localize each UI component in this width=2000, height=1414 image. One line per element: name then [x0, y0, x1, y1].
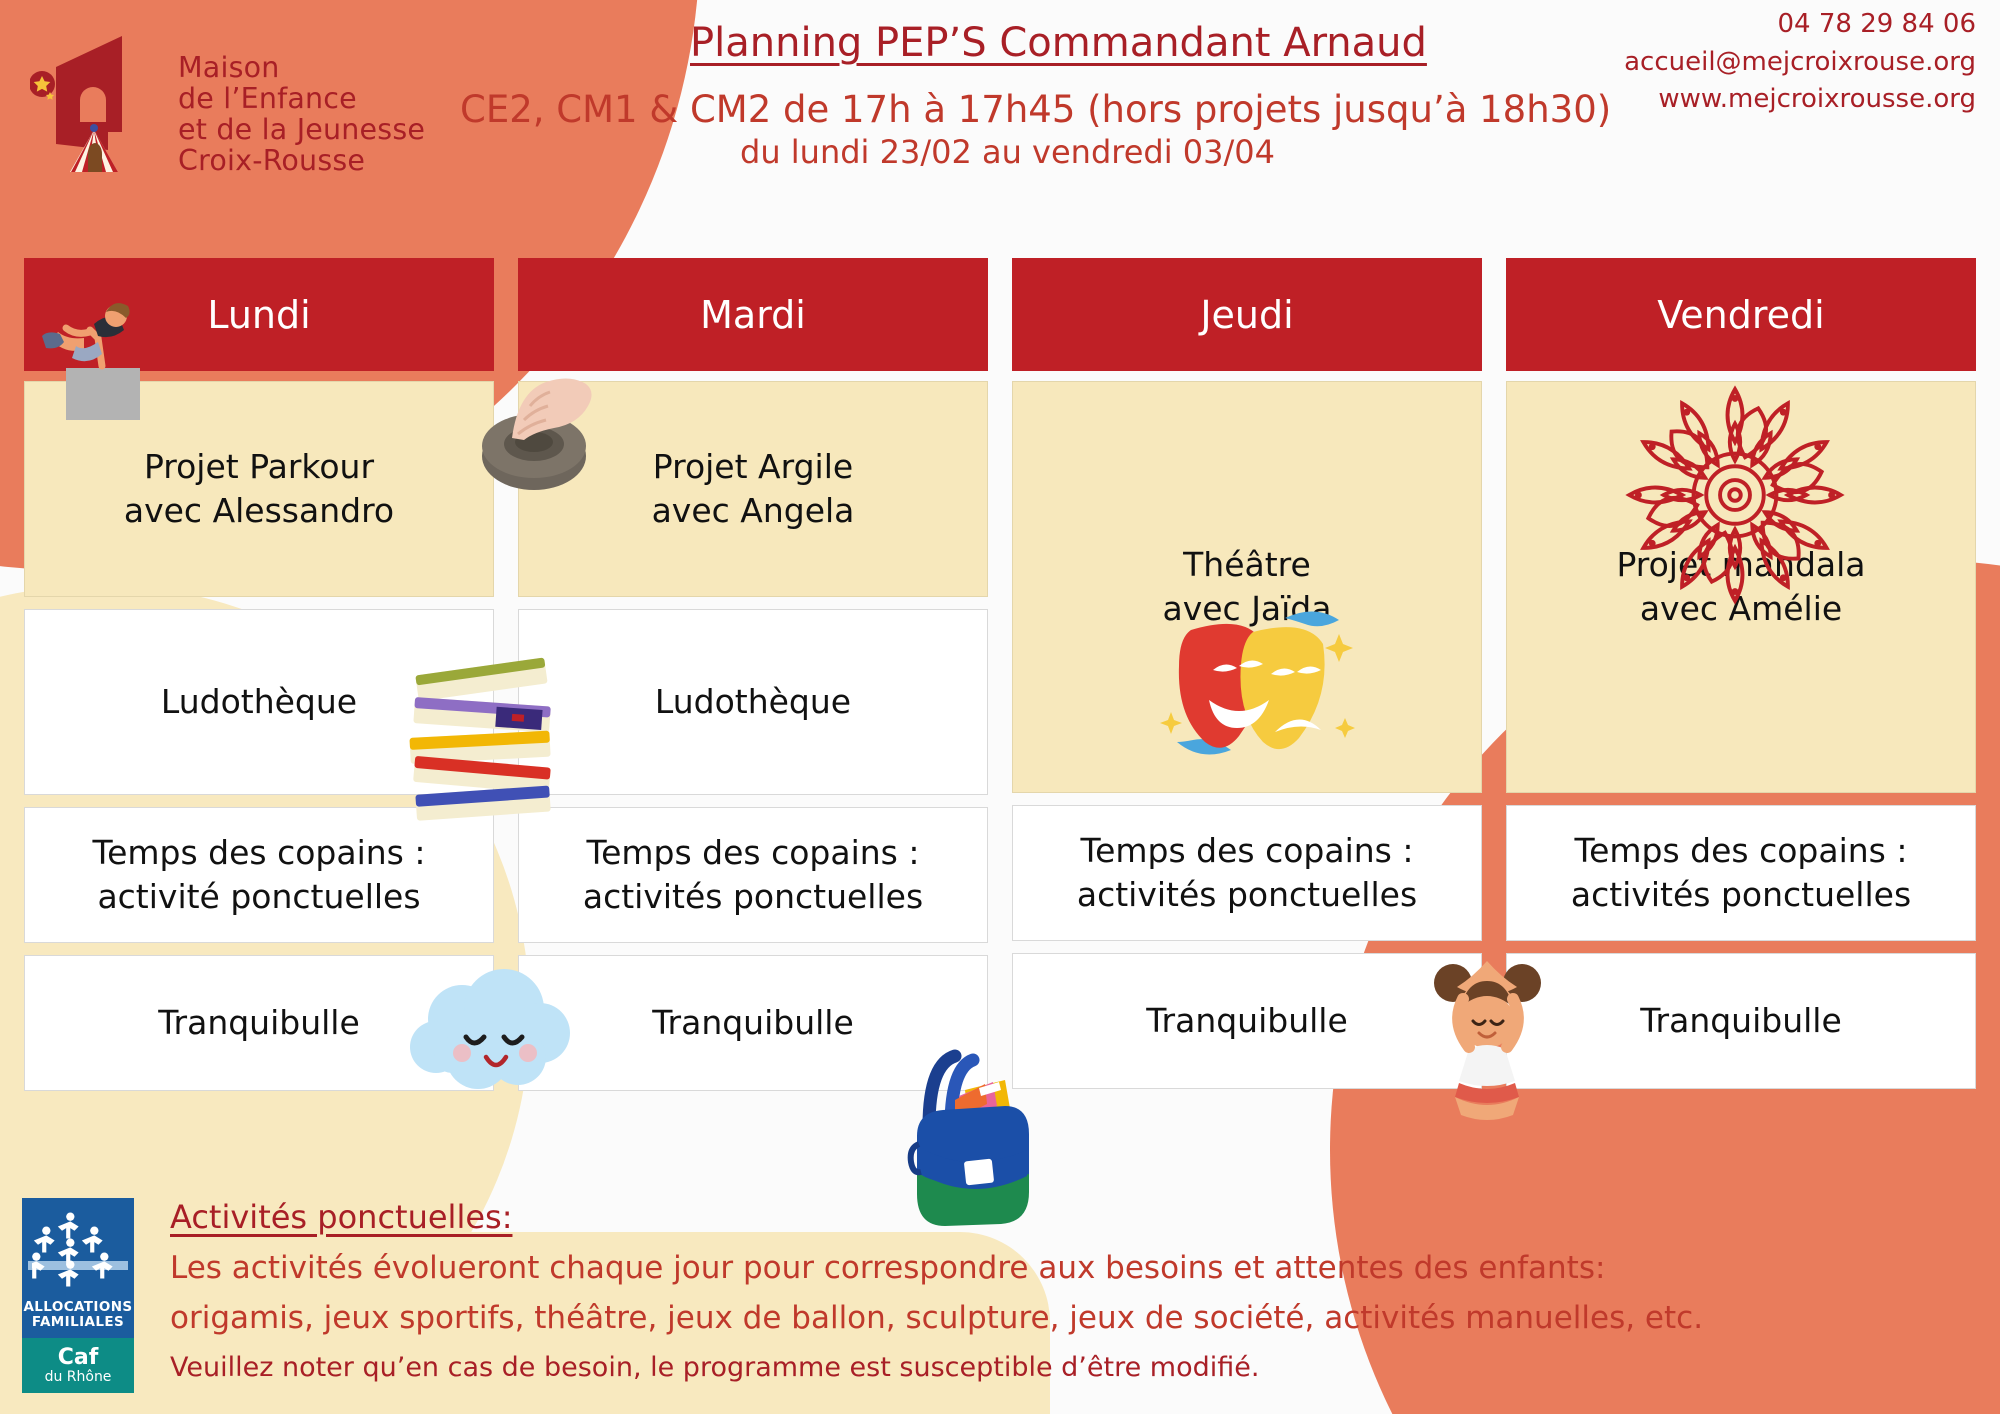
day-header-lundi: Lundi: [24, 258, 494, 371]
activity-label: Ludothèque: [161, 680, 357, 724]
caf-brand: Caf: [58, 1346, 99, 1369]
page-title: Planning PEP’S Commandant Arnaud: [690, 20, 1427, 66]
caf-label: ALLOCATIONS FAMILIALES: [23, 1300, 132, 1331]
day-column-jeudi: JeudiThéâtreavec JaïdaTemps des copains …: [1012, 258, 1482, 1138]
caf-logo-top: ALLOCATIONS FAMILIALES: [22, 1198, 134, 1338]
activity-label: Temps des copains :activités ponctuelles: [1571, 829, 1911, 917]
activity-cell-copains: Temps des copains :activités ponctuelles: [1012, 805, 1482, 941]
activity-label: Théâtreavec Jaïda: [1163, 543, 1332, 631]
activity-cell-tranquibulle: Tranquibulle: [24, 955, 494, 1091]
activity-label: Temps des copains :activité ponctuelles: [93, 831, 426, 919]
activity-cell-copains: Temps des copains :activités ponctuelles: [518, 807, 988, 943]
activity-cell-copains: Temps des copains :activités ponctuelles: [1506, 805, 1976, 941]
day-column-lundi: LundiProjet Parkouravec AlessandroLudoth…: [24, 258, 494, 1138]
poster-header: Maison de l’Enfance et de la Jeunesse Cr…: [0, 0, 2000, 205]
contact-website[interactable]: www.mejcroixrousse.org: [1416, 81, 1976, 119]
organization-name: Maison de l’Enfance et de la Jeunesse Cr…: [178, 49, 425, 173]
footer-line-1: Les activités évolueront chaque jour pou…: [170, 1250, 1605, 1286]
caf-family-icon: [32, 1210, 124, 1288]
activity-label: Tranquibulle: [1640, 999, 1842, 1043]
activity-label: Tranquibulle: [158, 1001, 360, 1045]
planning-poster: Maison de l’Enfance et de la Jeunesse Cr…: [0, 0, 2000, 1414]
contact-block: 04 78 29 84 06 accueil@mejcroixrouse.org…: [1416, 6, 1976, 119]
activity-cell-project-tall: Théâtreavec Jaïda: [1012, 381, 1482, 793]
logo-line-4: Croix-Rousse: [178, 142, 425, 173]
day-header-jeudi: Jeudi: [1012, 258, 1482, 371]
activity-cell-project: Projet Argileavec Angela: [518, 381, 988, 597]
schedule-grid: LundiProjet Parkouravec AlessandroLudoth…: [24, 258, 1976, 1138]
poster-footer: ALLOCATIONS FAMILIALES Caf du Rhône Acti…: [0, 1180, 2000, 1414]
logo-line-2: de l’Enfance: [178, 80, 425, 111]
activity-cell-tranquibulle: Tranquibulle: [1012, 953, 1482, 1089]
footer-heading: Activités ponctuelles:: [170, 1198, 512, 1236]
activity-cell-ludotheque: Ludothèque: [24, 609, 494, 795]
caf-label-line-2: FAMILIALES: [23, 1315, 132, 1331]
contact-phone: 04 78 29 84 06: [1416, 6, 1976, 44]
caf-logo: ALLOCATIONS FAMILIALES Caf du Rhône: [22, 1198, 134, 1393]
activity-cell-ludotheque: Ludothèque: [518, 609, 988, 795]
activity-label: Tranquibulle: [1146, 999, 1348, 1043]
activity-label: Projet mandalaavec Amélie: [1616, 543, 1865, 631]
activity-label: Temps des copains :activités ponctuelles: [583, 831, 923, 919]
activity-cell-project: Projet Parkouravec Alessandro: [24, 381, 494, 597]
activity-label: Projet Argileavec Angela: [652, 445, 855, 533]
activity-label: Ludothèque: [655, 680, 851, 724]
footer-line-2: origamis, jeux sportifs, théâtre, jeux d…: [170, 1300, 1703, 1336]
day-header-vendredi: Vendredi: [1506, 258, 1976, 371]
activity-cell-project-tall: Projet mandalaavec Amélie: [1506, 381, 1976, 793]
contact-email[interactable]: accueil@mejcroixrouse.org: [1416, 44, 1976, 82]
day-column-mardi: MardiProjet Argileavec AngelaLudothèqueT…: [518, 258, 988, 1138]
caf-logo-bottom: Caf du Rhône: [22, 1338, 134, 1393]
activity-label: Tranquibulle: [652, 1001, 854, 1045]
caf-region: du Rhône: [45, 1369, 112, 1386]
activity-label: Projet Parkouravec Alessandro: [124, 445, 394, 533]
activity-cell-tranquibulle: Tranquibulle: [518, 955, 988, 1091]
caf-label-line-1: ALLOCATIONS: [23, 1300, 132, 1316]
logo-line-3: et de la Jeunesse: [178, 111, 425, 142]
footer-line-3: Veuillez noter qu’en cas de besoin, le p…: [170, 1352, 1259, 1383]
activity-cell-tranquibulle: Tranquibulle: [1506, 953, 1976, 1089]
page-subtitle-dates: du lundi 23/02 au vendredi 03/04: [740, 133, 1275, 171]
logo-line-1: Maison: [178, 49, 425, 80]
activity-label: Temps des copains :activités ponctuelles: [1077, 829, 1417, 917]
day-header-mardi: Mardi: [518, 258, 988, 371]
mej-tent-logo-icon: [30, 22, 165, 172]
day-column-vendredi: VendrediProjet mandalaavec AmélieTemps d…: [1506, 258, 1976, 1138]
organization-logo: Maison de l’Enfance et de la Jeunesse Cr…: [30, 22, 410, 172]
activity-cell-copains: Temps des copains :activité ponctuelles: [24, 807, 494, 943]
